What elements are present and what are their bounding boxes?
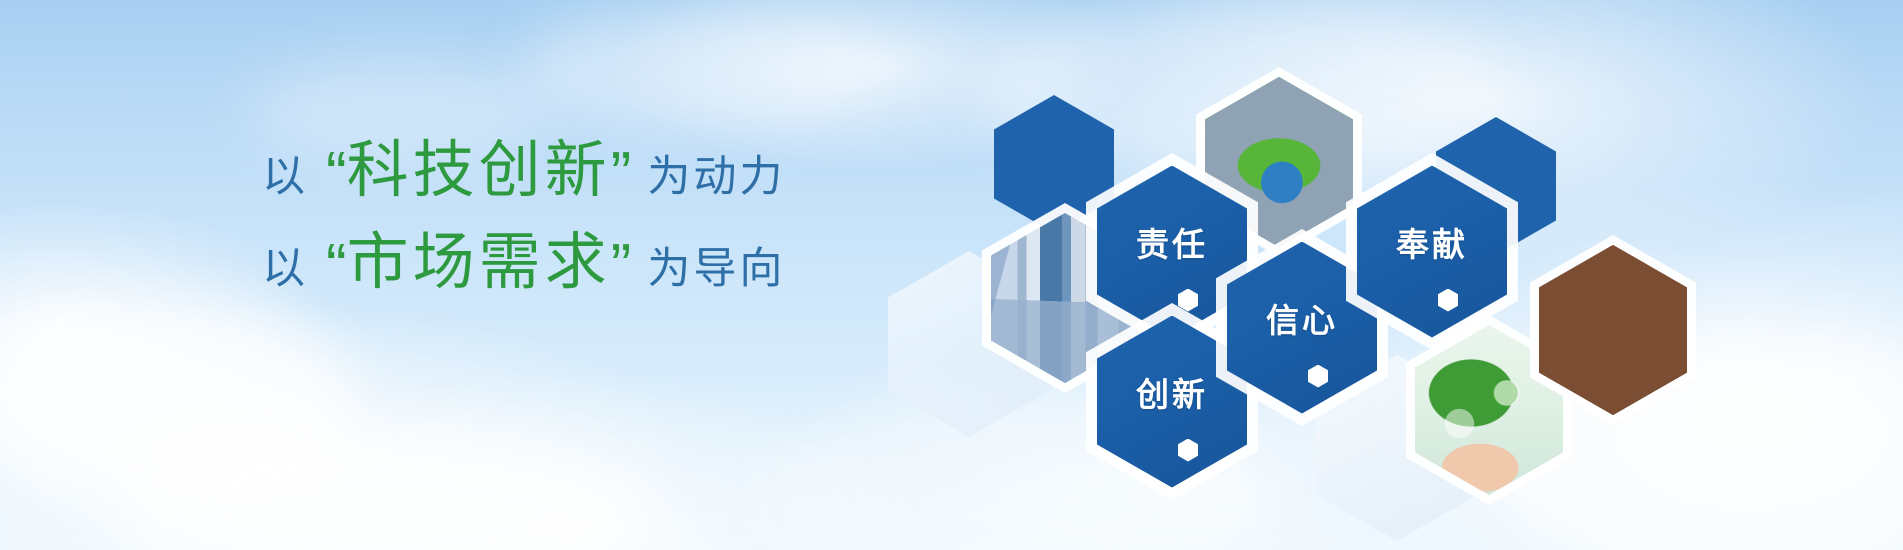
slogan-block: 以 “ 科技创新 ” 为动力 以 “ 市场需求 ” 为导向 <box>262 140 785 324</box>
hex-dot-icon <box>1178 289 1198 312</box>
slogan-1-suffix: 为动力 <box>647 156 785 199</box>
hex-label-confidence: 信心 <box>1266 294 1338 342</box>
hex-label-innovation: 创新 <box>1136 368 1208 416</box>
slogan-2-open-quote: “ <box>326 236 347 298</box>
cloud-decoration <box>520 10 880 130</box>
cloud-decoration <box>0 300 360 500</box>
hex-dot-icon <box>1178 439 1198 462</box>
slogan-line-2: 以 “ 市场需求 ” 为导向 <box>262 232 785 324</box>
slogan-1-open-quote: “ <box>326 144 347 206</box>
hex-label-responsibility: 责任 <box>1136 218 1208 266</box>
hex-dot-icon <box>1308 365 1328 388</box>
business-team-thumbs-up-image <box>1539 245 1687 415</box>
slogan-line-1: 以 “ 科技创新 ” 为动力 <box>262 140 785 232</box>
hero-banner: 以 “ 科技创新 ” 为动力 以 “ 市场需求 ” 为导向 <box>0 0 1903 550</box>
slogan-2-prefix: 以 <box>262 248 308 291</box>
hexagon-cluster: 责任 创新 信心 奉献 <box>1000 55 1720 475</box>
cloud-decoration <box>120 430 640 550</box>
slogan-1-prefix: 以 <box>262 156 308 199</box>
slogan-2-suffix: 为导向 <box>647 248 785 291</box>
slogan-2-close-quote: ” <box>611 236 632 298</box>
slogan-1-close-quote: ” <box>611 144 632 206</box>
hex-label-dedication: 奉献 <box>1396 218 1468 266</box>
hex-dot-icon <box>1438 289 1458 312</box>
slogan-1-highlight: 科技创新 <box>347 140 611 202</box>
hex-tile-dedication-face: 奉献 <box>1357 166 1507 338</box>
slogan-2-highlight: 市场需求 <box>347 232 611 294</box>
